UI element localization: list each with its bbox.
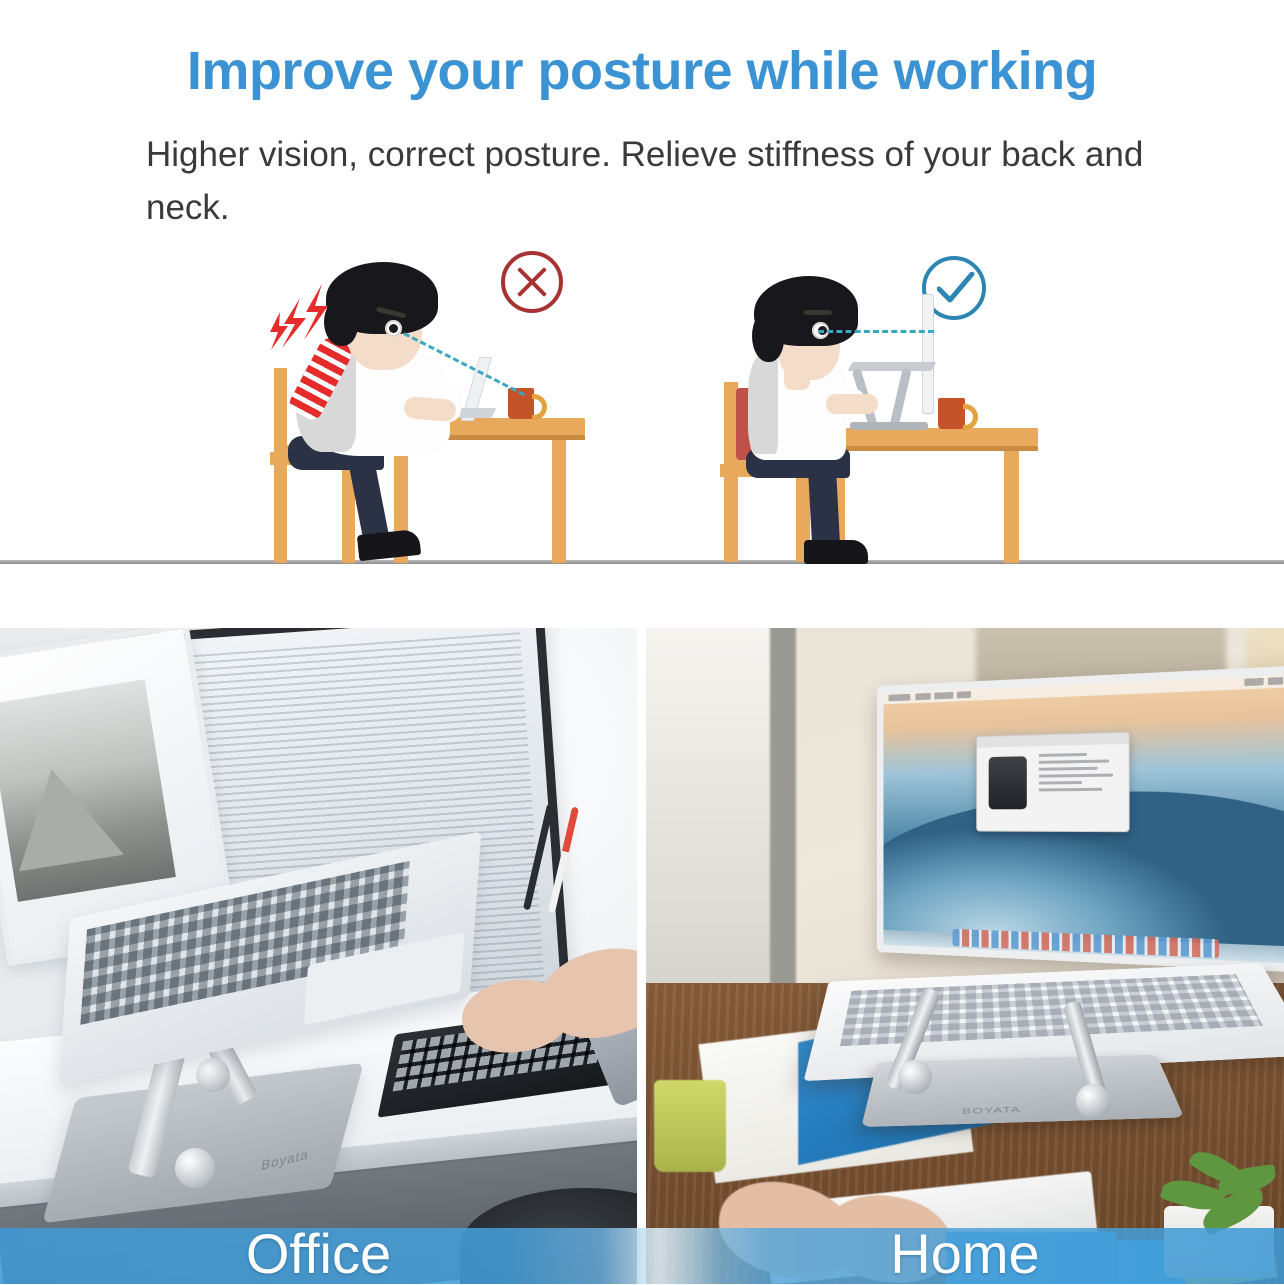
home-photo: BOYATA	[646, 628, 1284, 1284]
label-office: Office	[0, 1226, 637, 1282]
page-subtitle: Higher vision, correct posture. Relieve …	[146, 128, 1156, 234]
brand-logo-office: Boyata	[260, 1146, 310, 1173]
good-posture-scene	[700, 240, 1045, 628]
bottom-label-banner: Office Home	[0, 1228, 1284, 1284]
label-home: Home	[646, 1226, 1284, 1282]
posture-comparison-illustration	[0, 240, 1284, 628]
lifestyle-photos: Boyata	[0, 628, 1284, 1284]
bad-posture-scene	[252, 240, 592, 628]
brand-logo-home: BOYATA	[962, 1105, 1021, 1115]
mug-good	[938, 398, 965, 429]
mug-handle-bad	[532, 394, 547, 420]
eyeline-good	[818, 330, 934, 333]
laptop-wallpaper	[883, 673, 1284, 964]
office-photo: Boyata	[0, 628, 637, 1284]
menu-bar	[883, 673, 1284, 704]
photo-divider	[637, 628, 646, 1284]
mug-handle-good	[963, 404, 978, 430]
laptop-home	[851, 676, 1284, 966]
green-cup	[654, 1080, 726, 1172]
product-marketing-image: Improve your posture while working Highe…	[0, 0, 1284, 1284]
app-window	[976, 731, 1129, 832]
page-title: Improve your posture while working	[0, 40, 1284, 102]
pain-lightning-icon	[270, 282, 344, 354]
floor-line	[0, 560, 1284, 564]
product-thumbnail	[989, 756, 1027, 809]
circle-x-icon	[501, 251, 563, 313]
